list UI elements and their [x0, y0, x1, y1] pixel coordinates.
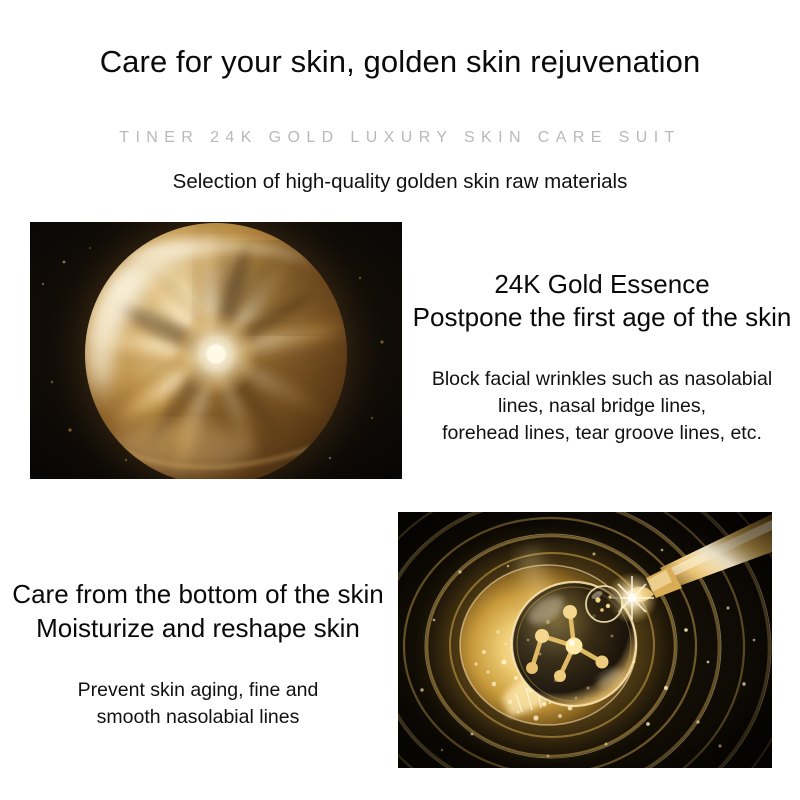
moisturize-heading-line2: Moisturize and reshape skin	[0, 611, 396, 645]
promo-page: Care for your skin, golden skin rejuvena…	[0, 0, 800, 800]
moisturize-body: Prevent skin aging, fine and smooth naso…	[0, 677, 396, 731]
essence-text-block: 24K Gold Essence Postpone the first age …	[404, 268, 800, 447]
essence-body-line3: forehead lines, tear groove lines, etc.	[404, 420, 800, 447]
gold-sphere-artwork	[30, 222, 402, 479]
gold-sphere-photo	[30, 222, 402, 479]
essence-heading-line2: Postpone the first age of the skin	[404, 300, 800, 334]
moisturize-body-line1: Prevent skin aging, fine and	[0, 677, 396, 704]
essence-body-line2: lines, nasal bridge lines,	[404, 393, 800, 420]
moisturize-body-line2: smooth nasolabial lines	[0, 704, 396, 731]
essence-body-line1: Block facial wrinkles such as nasolabial	[404, 366, 800, 393]
small-bubble	[586, 586, 622, 622]
essence-body: Block facial wrinkles such as nasolabial…	[404, 366, 800, 447]
brand-tagline: TINER 24K GOLD LUXURY SKIN CARE SUIT	[0, 129, 800, 147]
moisturize-heading-line1: Care from the bottom of the skin	[0, 578, 396, 611]
serum-drop-photo	[398, 512, 772, 768]
moisturize-text-block: Care from the bottom of the skin Moistur…	[0, 578, 396, 731]
page-subtitle: Selection of high-quality golden skin ra…	[0, 170, 800, 194]
essence-heading-line1: 24K Gold Essence	[404, 268, 800, 300]
serum-drop-artwork	[398, 512, 772, 768]
page-title: Care for your skin, golden skin rejuvena…	[0, 44, 800, 80]
